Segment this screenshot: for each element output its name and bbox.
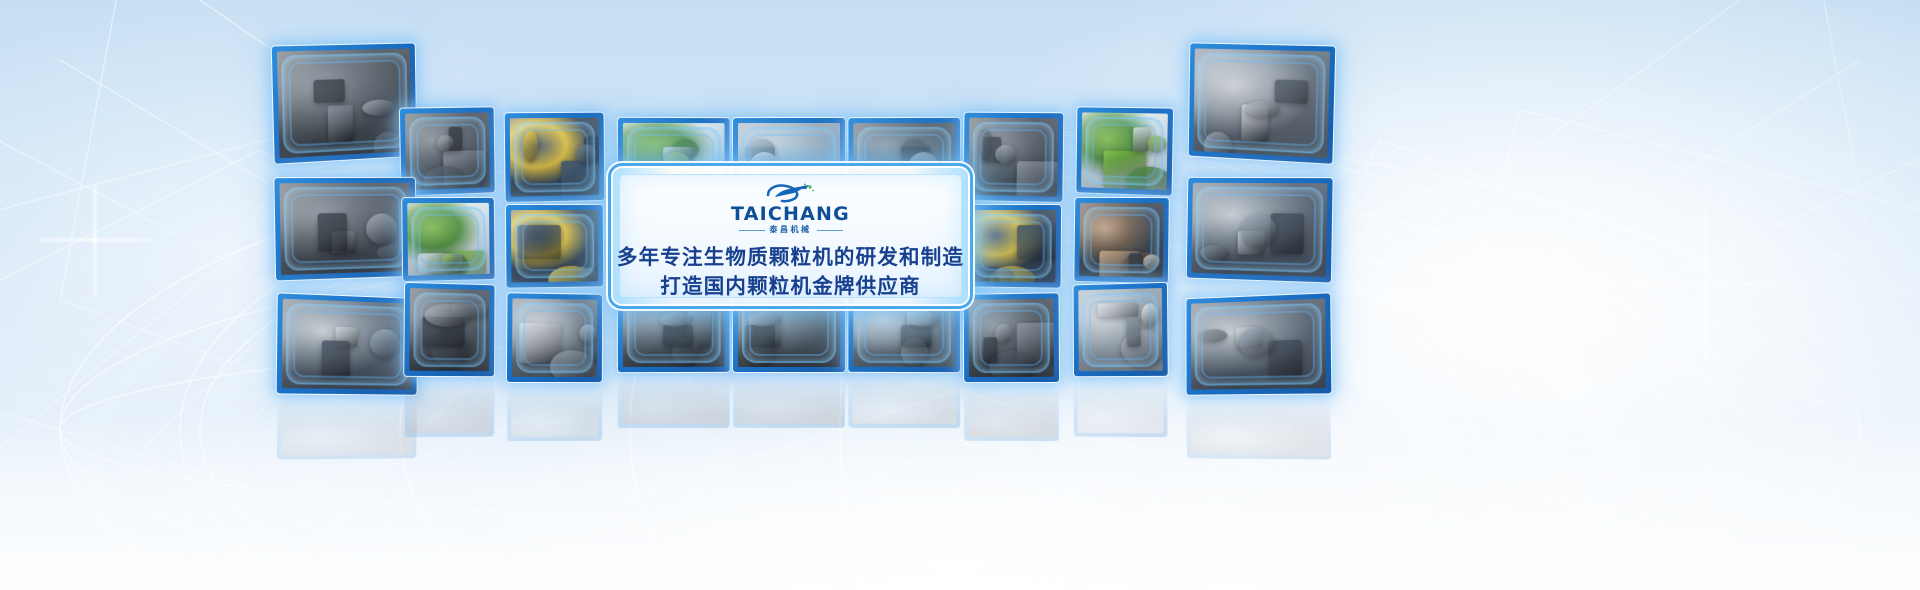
wall-tile-reflection [618,376,730,428]
wall-tile-screen [969,118,1059,197]
wall-tile-screen [1078,288,1162,371]
wall-tile-screen [407,203,490,276]
wall-tile-reflection-photo [1077,384,1163,434]
logo-rule-left [739,230,765,231]
wall-tile-reflection [848,376,960,428]
center-message-panel: TAICHANG 泰昌机械 多年专注生物质颗粒机的研发和制造 打造国内颗粒机金牌… [613,168,968,304]
wall-tile-reflection [507,386,602,441]
wall-tile-screen [409,288,490,371]
tagline-line-2: 打造国内颗粒机金牌供应商 [617,272,964,301]
wall-tile[interactable] [964,293,1059,382]
wall-tile[interactable] [277,293,417,394]
wall-tile-photo-detail [1079,203,1164,278]
wall-tile-screen [1081,112,1168,190]
logo-wordmark: TAICHANG [731,205,850,224]
wall-tile-screen [405,112,490,190]
wall-tile[interactable] [507,293,602,382]
wall-tile-photo-detail [511,210,598,283]
wall-tile-reflection-photo [622,380,726,424]
wall-tile-photo-detail [279,183,411,275]
wall-tile-reflection [733,376,845,428]
wall-tile-photo-detail [1191,183,1327,277]
wall-tile-screen [1079,203,1164,278]
wall-tile-photo-detail [1081,112,1168,190]
wall-tile-photo-detail [1191,299,1326,390]
wall-tile-screen [511,210,598,283]
wall-tile-photo-detail [512,298,597,377]
wall-tile-screen [512,298,597,377]
wall-tile[interactable] [505,113,605,202]
wall-tile[interactable] [1187,178,1333,283]
wall-tile-screen [282,299,412,390]
wall-tile-reflection-photo [968,390,1055,437]
wall-tile[interactable] [1189,43,1336,163]
wall-tile[interactable] [964,113,1064,202]
wall-tile-reflection [1186,397,1331,459]
company-logo: TAICHANG 泰昌机械 [731,182,850,234]
company-banner: TAICHANG 泰昌机械 多年专注生物质颗粒机的研发和制造 打造国内颗粒机金牌… [0,0,1920,590]
wall-tile[interactable] [964,205,1061,288]
wall-tile[interactable] [402,198,495,281]
wall-tile-photo-detail [1193,48,1330,158]
wall-tile[interactable] [1186,293,1331,394]
wall-tile-photo-detail [969,210,1056,283]
wall-tile-screen [279,183,411,275]
wall-tile-photo-detail [405,112,490,190]
wall-tile[interactable] [1074,198,1169,283]
logo-chinese-name: 泰昌机械 [770,226,812,234]
wall-tile-photo-detail [1078,288,1162,371]
wall-tile-reflection [404,380,494,438]
wall-tile-photo-detail [738,293,840,367]
wall-tile-screen [277,48,412,158]
wall-tile[interactable] [274,178,416,281]
wall-tile[interactable] [404,283,494,376]
wall-tile-screen [1193,48,1330,158]
wall-tile-screen [969,210,1056,283]
wall-tile-reflection-photo [408,384,490,433]
wall-tile-reflection-photo [852,380,956,424]
wall-tile-photo-detail [969,118,1059,197]
wall-tile-photo-detail [282,299,412,390]
logo-rule-right [817,230,843,231]
wall-tile[interactable] [272,43,417,163]
wall-tile-reflection-photo [511,390,598,437]
wall-tile-screen [510,118,600,197]
tagline-line-1: 多年专注生物质颗粒机的研发和制造 [617,243,964,272]
wall-tile-photo-detail [510,118,600,197]
wall-tile-reflection-photo [737,380,841,424]
wall-tile-reflection [277,397,417,459]
wall-tile-photo-detail [277,48,412,158]
wall-tile[interactable] [506,205,603,288]
wall-tile-reflection [964,386,1059,441]
tagline: 多年专注生物质颗粒机的研发和制造 打造国内颗粒机金牌供应商 [617,243,964,301]
wall-tile-screen [969,298,1054,377]
wall-tile-screen [738,293,840,367]
wall-tile-screen [1191,183,1327,277]
wall-tile[interactable] [1074,283,1168,376]
wall-tile-photo-detail [407,203,490,276]
wall-tile-photo-detail [969,298,1054,377]
wall-tile[interactable] [1076,107,1173,195]
wall-tile-screen [1191,299,1326,390]
taichang-swoosh-mark [760,182,822,204]
wall-tile-reflection-photo [1190,401,1327,455]
wall-tile-reflection-photo [281,401,414,455]
wall-tile-photo-detail [409,288,490,371]
wall-tile-reflection [1074,380,1168,438]
